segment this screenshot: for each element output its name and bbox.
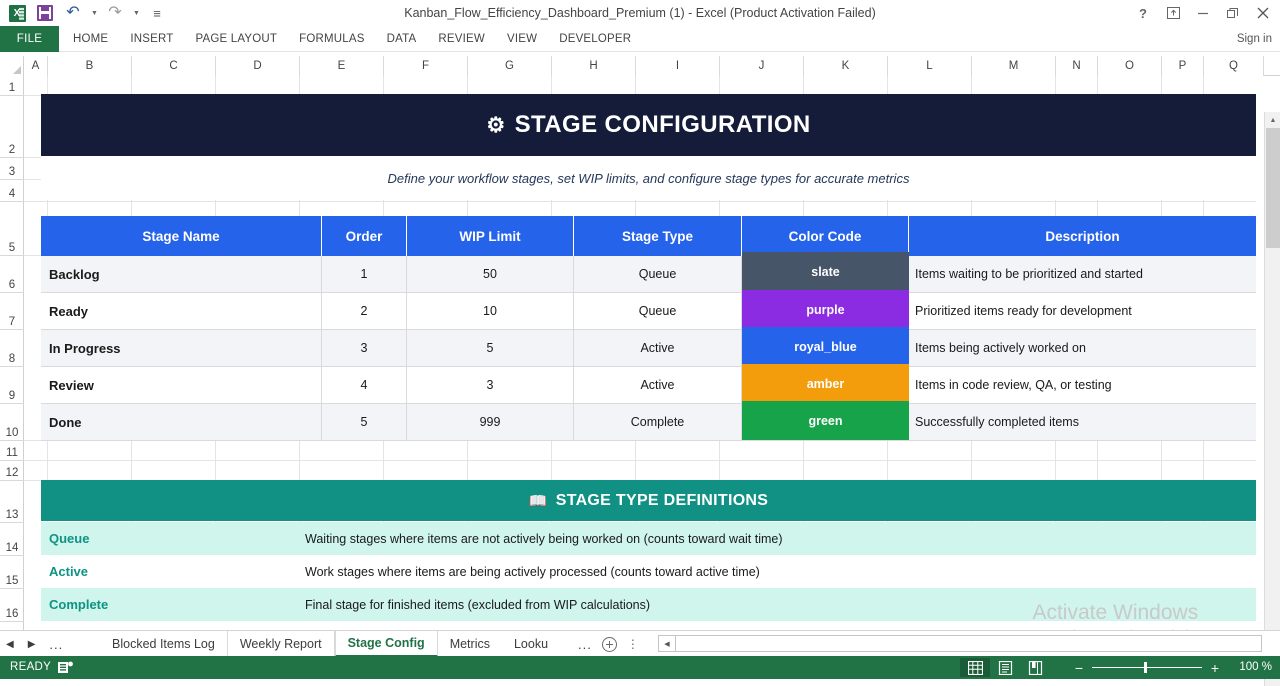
status-text: READY: [10, 656, 51, 679]
sheet-tab-weekly-report[interactable]: Weekly Report: [228, 631, 335, 657]
cell-wip-limit: 999: [407, 404, 574, 441]
view-buttons: [960, 658, 1050, 677]
tab-data[interactable]: DATA: [376, 26, 428, 52]
cell-stage-name: In Progress: [41, 330, 322, 367]
column-header-J[interactable]: J: [720, 56, 804, 76]
more-sheets-icon[interactable]: ⋮: [627, 637, 639, 651]
cell-stage-type: Queue: [574, 256, 742, 293]
cell-stage-type: Active: [574, 367, 742, 404]
column-header-Q[interactable]: Q: [1204, 56, 1264, 76]
tab-developer[interactable]: DEVELOPER: [548, 26, 642, 52]
window-controls: ?: [1128, 0, 1278, 26]
column-order: Order: [322, 216, 407, 256]
vertical-scrollbar[interactable]: ▲: [1264, 112, 1280, 686]
sheet-overflow-left[interactable]: ...: [49, 637, 63, 652]
cell-wip-limit: 50: [407, 256, 574, 293]
column-header-N[interactable]: N: [1056, 56, 1098, 76]
stage-type-definitions-header: 📖 STAGE TYPE DEFINITIONS: [41, 480, 1256, 521]
cell-description: Items being actively worked on: [909, 330, 1256, 367]
next-sheet-icon[interactable]: ▶: [28, 639, 36, 650]
ribbon-tabs: HOME INSERT PAGE LAYOUT FORMULAS DATA RE…: [62, 26, 642, 52]
column-description: Description: [909, 216, 1256, 256]
cell-wip-limit: 10: [407, 293, 574, 330]
definition-description: Waiting stages where items are not activ…: [299, 522, 1256, 555]
sheet-tabs: Blocked Items Log Weekly Report Stage Co…: [100, 631, 550, 657]
row-header-7[interactable]: 7: [0, 293, 24, 330]
cell-wip-limit: 5: [407, 330, 574, 367]
sheet-tab-blocked-items-log[interactable]: Blocked Items Log: [100, 631, 228, 657]
save-icon[interactable]: [32, 1, 58, 25]
horizontal-scrollbar[interactable]: ◀: [658, 635, 1262, 652]
list-item[interactable]: Complete Final stage for finished items …: [41, 588, 1256, 621]
cell-description: Items in code review, QA, or testing: [909, 367, 1256, 404]
cell-stage-name: Backlog: [41, 256, 322, 293]
scroll-left-icon[interactable]: ◀: [659, 636, 676, 651]
column-header-F[interactable]: F: [384, 56, 468, 76]
close-icon[interactable]: [1248, 0, 1278, 26]
column-header-G[interactable]: G: [468, 56, 552, 76]
list-item[interactable]: Active Work stages where items are being…: [41, 555, 1256, 588]
cell-stage-name: Done: [41, 404, 322, 441]
cell-color-code: royal_blue: [742, 327, 909, 367]
definitions-title: STAGE TYPE DEFINITIONS: [556, 492, 769, 510]
column-header-H[interactable]: H: [552, 56, 636, 76]
row-header-6[interactable]: 6: [0, 256, 24, 293]
cell-stage-name: Ready: [41, 293, 322, 330]
definition-term: Active: [41, 555, 299, 588]
table-row[interactable]: Ready 2 10 Queue purple Prioritized item…: [41, 293, 1256, 330]
cell-stage-type: Queue: [574, 293, 742, 330]
list-item[interactable]: Queue Waiting stages where items are not…: [41, 522, 1256, 555]
tab-formulas[interactable]: FORMULAS: [288, 26, 376, 52]
column-header-B[interactable]: B: [48, 56, 132, 76]
sheet-tab-controls: ... ⋮: [578, 631, 639, 657]
stage-table-header: Stage Name Order WIP Limit Stage Type Co…: [41, 216, 1256, 256]
cell-order: 2: [322, 293, 407, 330]
cell-color-code: purple: [742, 290, 909, 330]
zoom-control: − +: [1074, 656, 1220, 679]
tab-home[interactable]: HOME: [62, 26, 119, 52]
minimize-icon[interactable]: [1188, 0, 1218, 26]
zoom-in-button[interactable]: +: [1210, 660, 1220, 676]
cell-order: 4: [322, 367, 407, 404]
cell-stage-name: Review: [41, 367, 322, 404]
zoom-out-button[interactable]: −: [1074, 660, 1084, 676]
row-header-9[interactable]: 9: [0, 367, 24, 404]
column-stage-type: Stage Type: [574, 216, 742, 256]
definition-description: Items that cannot proceed due to depende…: [299, 621, 1256, 630]
grid-cells[interactable]: ⚙ STAGE CONFIGURATION Define your workfl…: [24, 76, 1256, 630]
column-color-code: Color Code: [742, 216, 909, 256]
zoom-slider[interactable]: [1092, 667, 1202, 668]
cell-order: 5: [322, 404, 407, 441]
sheet-tab-metrics[interactable]: Metrics: [438, 631, 502, 657]
sheet-nav-arrows: ◀ ▶ ...: [6, 631, 63, 657]
row-header-14[interactable]: 14: [0, 523, 24, 556]
table-row[interactable]: Backlog 1 50 Queue slate Items waiting t…: [41, 256, 1256, 293]
scroll-up-icon[interactable]: ▲: [1265, 112, 1280, 128]
row-header-12[interactable]: 12: [0, 461, 24, 481]
column-header-E[interactable]: E: [300, 56, 384, 76]
ribbon-display-options-icon[interactable]: [1158, 0, 1188, 26]
row-header-5[interactable]: 5: [0, 202, 24, 256]
column-stage-name: Stage Name: [41, 216, 322, 256]
cell-description: Prioritized items ready for development: [909, 293, 1256, 330]
cell-description: Successfully completed items: [909, 404, 1256, 441]
cell-color-code: slate: [742, 252, 909, 293]
cell-color-code: green: [742, 401, 909, 441]
undo-icon[interactable]: ↶: [60, 1, 86, 25]
definition-term: Complete: [41, 588, 299, 621]
column-header-P[interactable]: P: [1162, 56, 1204, 76]
row-header-3[interactable]: 3: [0, 158, 24, 180]
column-header-I[interactable]: I: [636, 56, 720, 76]
tab-insert[interactable]: INSERT: [119, 26, 184, 52]
sheet-tab-bar: ◀ ▶ ... Blocked Items Log Weekly Report …: [0, 630, 1280, 656]
restore-icon[interactable]: [1218, 0, 1248, 26]
table-row[interactable]: In Progress 3 5 Active royal_blue Items …: [41, 330, 1256, 367]
column-header-C[interactable]: C: [132, 56, 216, 76]
row-header-13[interactable]: 13: [0, 481, 24, 523]
cell-order: 1: [322, 256, 407, 293]
record-macro-icon[interactable]: [58, 660, 74, 675]
vertical-scroll-thumb[interactable]: [1266, 128, 1280, 248]
spreadsheet-grid: A B C D E F G H I J K L M N O P Q 1 2 3 …: [0, 56, 1280, 630]
table-row[interactable]: Done 5 999 Complete green Successfully c…: [41, 404, 1256, 441]
definition-description: Work stages where items are being active…: [299, 555, 1256, 588]
column-header-D[interactable]: D: [216, 56, 300, 76]
open-book-icon: 📖: [529, 492, 548, 510]
help-icon[interactable]: ?: [1128, 0, 1158, 26]
title-bar: X ↶ ▼ ↷ ▼ ≡ Kanban_Flow_Efficiency_Dashb…: [0, 0, 1280, 26]
sheet-tab-stage-config[interactable]: Stage Config: [335, 631, 438, 657]
definition-term: Queue: [41, 522, 299, 555]
page-layout-view-button[interactable]: [990, 658, 1020, 677]
cell-stage-type: Complete: [574, 404, 742, 441]
page-break-preview-button[interactable]: [1020, 658, 1050, 677]
sheet-subtitle: Define your workflow stages, set WIP lim…: [41, 156, 1256, 200]
customize-quick-access-toolbar-icon[interactable]: ≡: [144, 1, 170, 25]
row-header-8[interactable]: 8: [0, 330, 24, 367]
ribbon-tab-bar: FILE HOME INSERT PAGE LAYOUT FORMULAS DA…: [0, 26, 1280, 52]
column-header-O[interactable]: O: [1098, 56, 1162, 76]
tab-view[interactable]: VIEW: [496, 26, 548, 52]
cell-order: 3: [322, 330, 407, 367]
row-headers: 1 2 3 4 5 6 7 8 9 10 11 12 13 14 15 16 1…: [0, 76, 24, 630]
undo-dropdown-icon[interactable]: ▼: [88, 1, 100, 25]
column-header-M[interactable]: M: [972, 56, 1056, 76]
zoom-level-label[interactable]: 100 %: [1239, 656, 1272, 679]
row-header-16[interactable]: 16: [0, 589, 24, 622]
tab-file[interactable]: FILE: [0, 26, 59, 52]
stage-config-sheet: ⚙ STAGE CONFIGURATION Define your workfl…: [24, 76, 1256, 630]
row-header-15[interactable]: 15: [0, 556, 24, 589]
column-header-L[interactable]: L: [888, 56, 972, 76]
column-wip-limit: WIP Limit: [407, 216, 574, 256]
row-header-1[interactable]: 1: [0, 76, 24, 96]
banner-title: STAGE CONFIGURATION: [515, 111, 811, 139]
zoom-slider-thumb[interactable]: [1144, 662, 1147, 673]
window-title: Kanban_Flow_Efficiency_Dashboard_Premium…: [0, 0, 1280, 26]
stage-configuration-banner: ⚙ STAGE CONFIGURATION: [41, 94, 1256, 156]
definition-term: Blocked: [41, 621, 299, 630]
sign-in-link[interactable]: Sign in: [1237, 26, 1272, 52]
cell-color-code: amber: [742, 364, 909, 404]
cell-stage-type: Active: [574, 330, 742, 367]
column-header-A[interactable]: A: [24, 56, 48, 76]
list-item[interactable]: Blocked Items that cannot proceed due to…: [41, 621, 1256, 630]
gear-icon: ⚙: [486, 113, 505, 138]
table-row[interactable]: Review 4 3 Active amber Items in code re…: [41, 367, 1256, 404]
row-header-10[interactable]: 10: [0, 404, 24, 441]
redo-icon[interactable]: ↷: [102, 1, 128, 25]
sheet-overflow-right[interactable]: ...: [578, 637, 592, 652]
excel-logo-icon: X: [4, 1, 30, 25]
row-header-2[interactable]: 2: [0, 96, 24, 158]
definition-description: Final stage for finished items (excluded…: [299, 588, 1256, 621]
column-header-K[interactable]: K: [804, 56, 888, 76]
redo-dropdown-icon[interactable]: ▼: [130, 1, 142, 25]
new-sheet-icon[interactable]: [602, 637, 617, 652]
tab-page-layout[interactable]: PAGE LAYOUT: [184, 26, 288, 52]
previous-sheet-icon[interactable]: ◀: [6, 639, 14, 650]
select-all-corner[interactable]: [0, 56, 24, 76]
row-header-11[interactable]: 11: [0, 441, 24, 461]
sheet-tab-lookup[interactable]: Looku: [502, 631, 550, 657]
row-header-4[interactable]: 4: [0, 180, 24, 202]
tab-review[interactable]: REVIEW: [427, 26, 496, 52]
quick-access-toolbar: X ↶ ▼ ↷ ▼ ≡: [4, 0, 170, 26]
cell-wip-limit: 3: [407, 367, 574, 404]
cell-description: Items waiting to be prioritized and star…: [909, 256, 1256, 293]
normal-view-button[interactable]: [960, 658, 990, 677]
column-headers: A B C D E F G H I J K L M N O P Q: [0, 56, 1280, 76]
status-bar: READY − + 100 %: [0, 656, 1280, 679]
